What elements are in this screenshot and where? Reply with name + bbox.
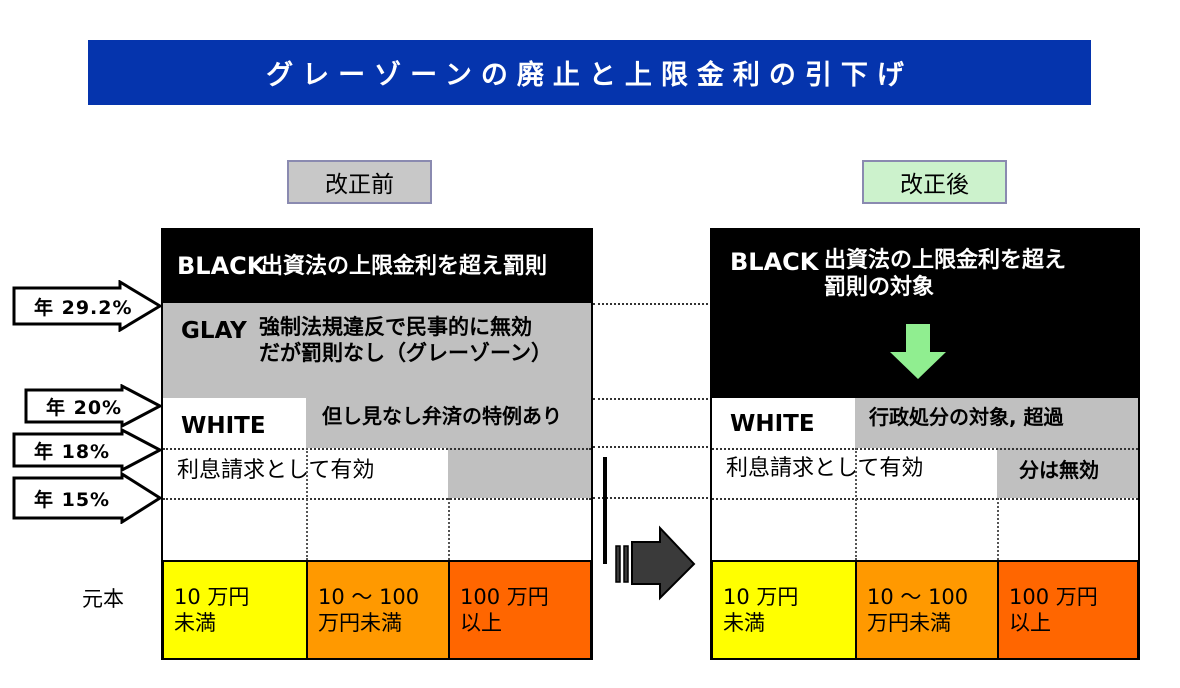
before-grid-row-1 xyxy=(163,448,591,450)
before-principal-tier-2: 10 ～ 100 万円未満 xyxy=(306,560,450,660)
panel-divider-bar xyxy=(603,457,607,564)
after-black-text: 出資法の上限金利を超え 罰則の対象 xyxy=(824,248,1066,302)
before-principal-tier-1: 10 万円 未満 xyxy=(162,560,308,660)
rate-arrow-29: 年 29.2% xyxy=(12,280,162,332)
after-black-band: BLACK 出資法の上限金利を超え 罰則の対象 xyxy=(712,230,1138,398)
before-white-text: 利息請求として有効 xyxy=(177,458,374,485)
before-grid-col-1 xyxy=(306,448,308,560)
phase-label-after-text: 改正後 xyxy=(900,165,969,199)
rate-arrow-20: 年 20% xyxy=(24,384,162,428)
phase-label-after: 改正後 xyxy=(862,160,1007,204)
before-panel: BLACK 出資法の上限金利を超え罰則 GLAY 強制法規違反で民事的に無効 だ… xyxy=(161,228,593,660)
before-gray-step-col3 xyxy=(448,448,591,498)
page-title-banner: グレーゾーンの廃止と上限金利の引下げ xyxy=(88,40,1091,105)
before-gray-tag: GLAY xyxy=(181,317,247,345)
page-title: グレーゾーンの廃止と上限金利の引下げ xyxy=(266,53,913,92)
before-gray-text: 強制法規違反で民事的に無効 だが罰則なし（グレーゾーン） xyxy=(259,315,552,366)
diagram-canvas: グレーゾーンの廃止と上限金利の引下げ 改正前 改正後 年 29.2% 年 20%… xyxy=(0,0,1180,688)
after-panel: BLACK 出資法の上限金利を超え 罰則の対象 行政処分の対象, 超過 分は無効… xyxy=(710,228,1140,660)
rate-arrow-15: 年 15% xyxy=(12,472,162,524)
after-principal-tier-1: 10 万円 未満 xyxy=(711,560,857,660)
after-white-tag: WHITE xyxy=(730,410,815,438)
before-white-tag: WHITE xyxy=(181,412,266,440)
connector-line-29 xyxy=(593,303,712,305)
rate-arrow-18-label: 年 18% xyxy=(12,428,110,472)
rate-arrow-15-label: 年 15% xyxy=(12,472,110,524)
after-principal-tier-3: 100 万円 以上 xyxy=(997,560,1139,660)
before-black-band: BLACK 出資法の上限金利を超え罰則 xyxy=(163,230,591,303)
connector-line-15 xyxy=(593,497,712,499)
after-gray-step-note: 行政処分の対象, 超過 xyxy=(855,398,1138,448)
after-gray-note-line2: 分は無効 xyxy=(1019,458,1099,482)
after-grid-col-1 xyxy=(855,448,857,560)
transition-arrow xyxy=(612,524,698,602)
rate-arrow-18: 年 18% xyxy=(12,428,162,472)
after-principal-tier-2: 10 ～ 100 万円未満 xyxy=(855,560,999,660)
before-grid-col-2 xyxy=(448,498,450,560)
after-gray-note-line1: 行政処分の対象, 超過 xyxy=(869,405,1064,429)
principal-axis-label: 元本 xyxy=(82,583,124,613)
phase-label-before-text: 改正前 xyxy=(325,165,394,199)
after-grid-col-2 xyxy=(997,498,999,560)
connector-line-20 xyxy=(593,398,712,400)
before-gray-step-note: 但し見なし弁済の特例あり xyxy=(306,398,591,448)
before-grid-row-2 xyxy=(163,498,591,500)
after-grid-row-2 xyxy=(712,498,1138,500)
before-black-tag: BLACK xyxy=(177,252,265,281)
before-gray-note-text: 但し見なし弁済の特例あり xyxy=(322,404,562,428)
connector-line-18 xyxy=(593,446,712,448)
after-gray-step-col3: 分は無効 xyxy=(997,448,1138,498)
down-arrow-green-icon xyxy=(888,324,948,380)
before-principal-tier-3: 100 万円 以上 xyxy=(448,560,592,660)
after-grid-row-1 xyxy=(712,448,1138,450)
before-gray-band: GLAY 強制法規違反で民事的に無効 だが罰則なし（グレーゾーン） xyxy=(163,303,591,398)
after-black-tag: BLACK xyxy=(730,248,818,277)
phase-label-before: 改正前 xyxy=(287,160,432,204)
rate-arrow-29-label: 年 29.2% xyxy=(12,280,133,332)
before-black-text: 出資法の上限金利を超え罰則 xyxy=(261,254,547,281)
after-white-text: 利息請求として有効 xyxy=(726,456,923,483)
rate-arrow-20-label: 年 20% xyxy=(24,384,122,428)
